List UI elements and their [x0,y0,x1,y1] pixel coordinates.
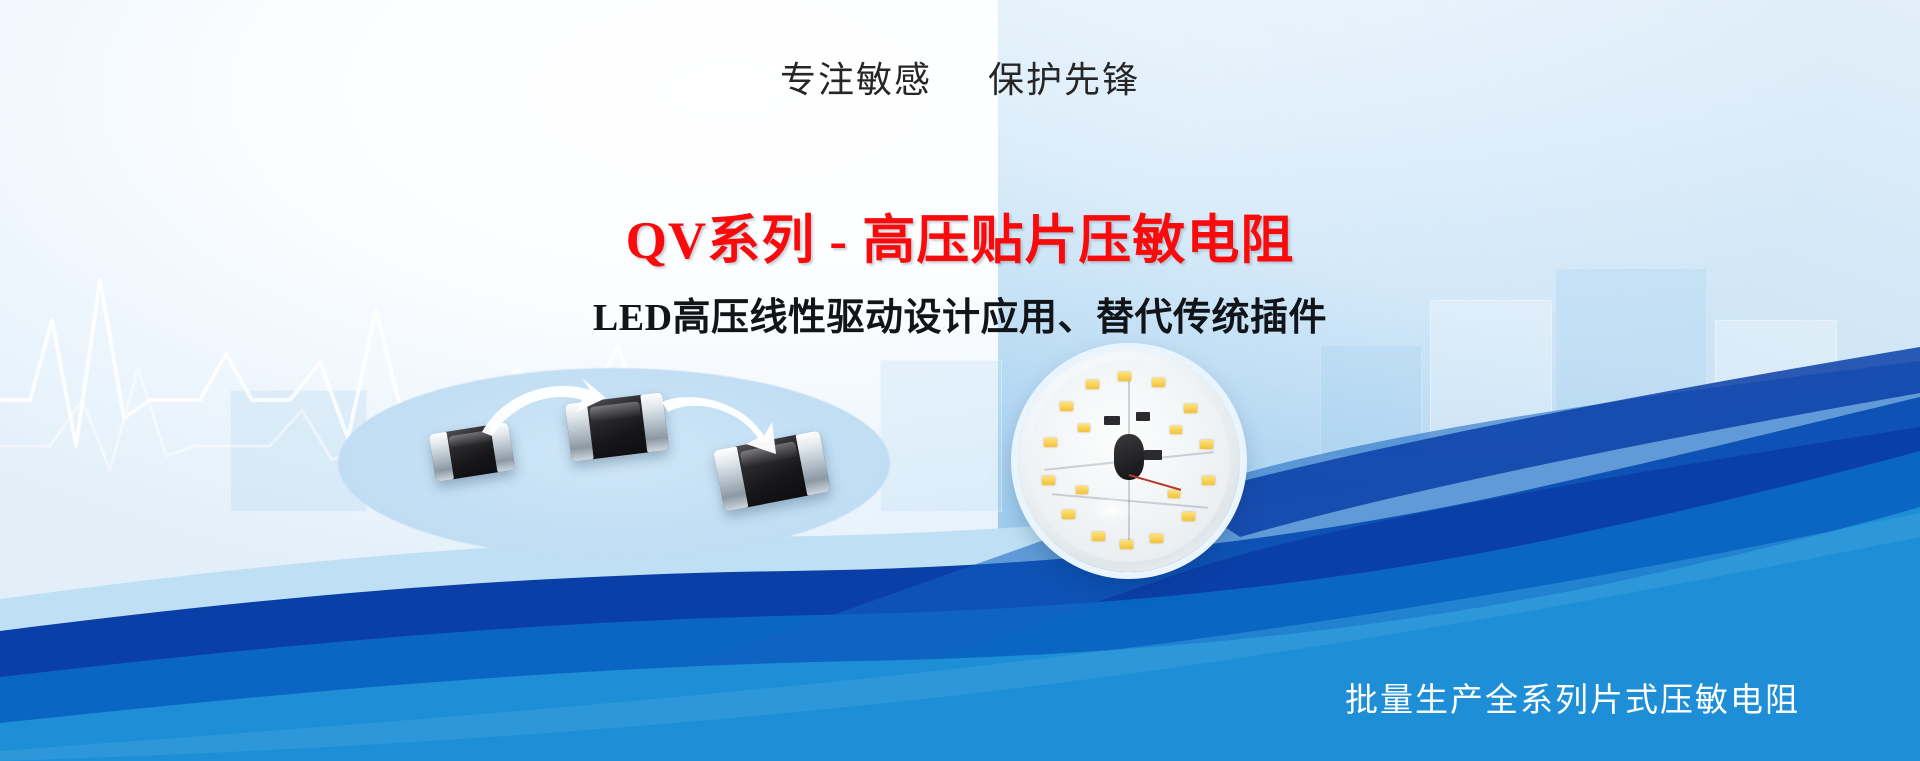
product-banner: 专注敏感保护先锋 QV系列 - 高压贴片压敏电阻 LED高压线性驱动设计应用、替… [0,0,1920,761]
slogan-right-text: 保护先锋 [988,60,1140,100]
led-emitter [1076,486,1088,494]
led-emitter [1118,372,1131,381]
led-emitter [1182,512,1195,521]
led-driver-chip [1104,416,1120,425]
led-emitter [1062,510,1075,519]
page-title: QV系列 - 高压贴片压敏电阻 [0,198,1920,274]
page-subtitle: LED高压线性驱动设计应用、替代传统插件 [0,286,1920,341]
led-emitter [1150,534,1163,543]
led-emitter [1152,378,1165,387]
footnote-text: 批量生产全系列片式压敏电阻 [0,673,1920,721]
led-emitter [1202,476,1215,485]
led-emitter [1044,438,1057,447]
upgrade-arrow-2 [660,388,780,458]
led-emitter [1086,380,1099,389]
led-emitter [1078,424,1090,432]
led-emitter [1168,490,1180,498]
led-driver-chip [1136,412,1150,421]
led-emitter [1060,402,1073,411]
slogan-left-text: 专注敏感 [780,60,932,100]
upgrade-arrow-1 [478,376,608,438]
led-light-engine-module [1018,350,1240,572]
led-driver-chip [1144,450,1162,460]
led-center-connector [1114,434,1144,480]
brand-slogan: 专注敏感保护先锋 [0,51,1920,103]
led-emitter [1042,476,1055,485]
led-glare [1091,497,1133,523]
led-emitter [1170,426,1182,434]
led-emitter [1092,532,1105,541]
led-emitter [1120,540,1133,549]
led-emitter [1184,404,1197,413]
led-emitter [1200,440,1213,449]
